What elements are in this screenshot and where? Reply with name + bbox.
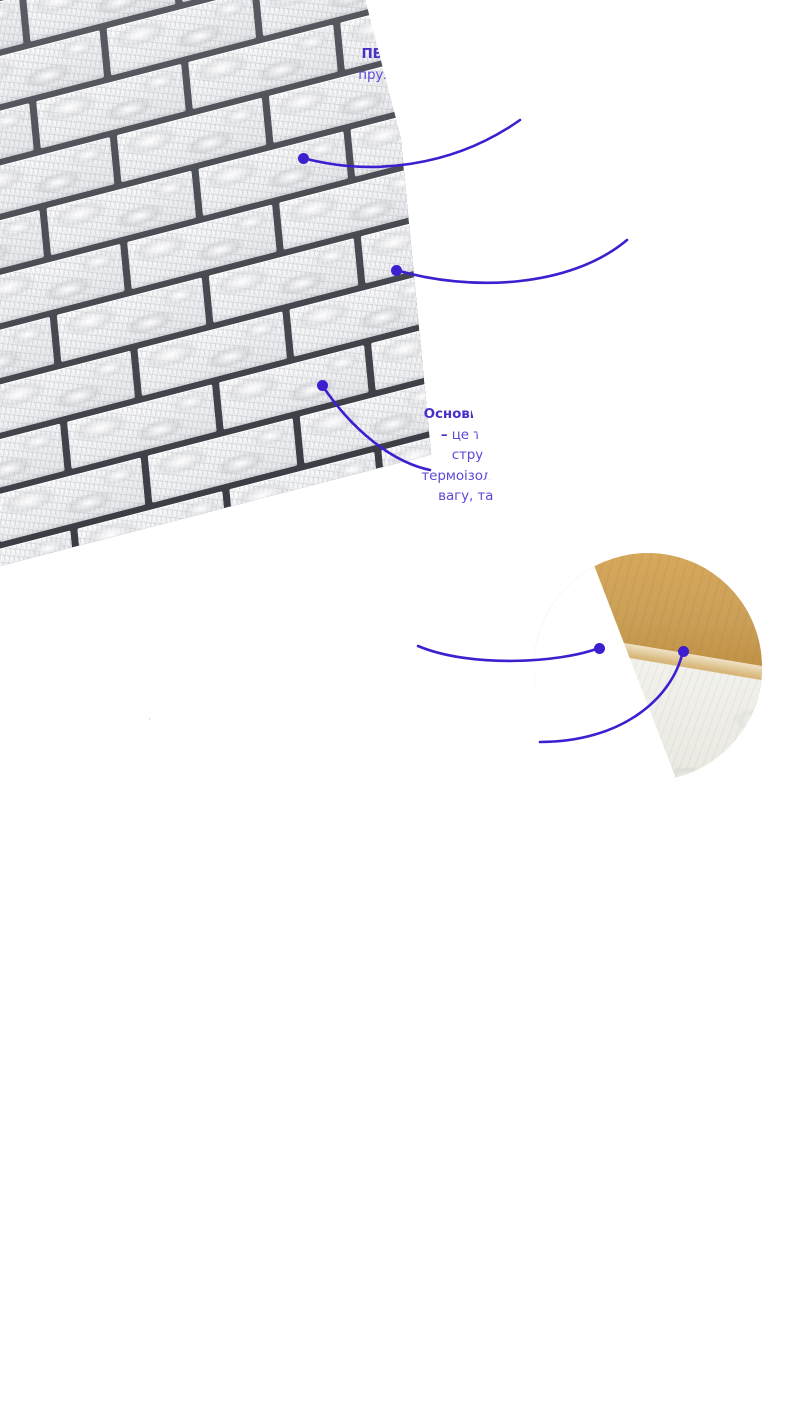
callout-dot-protective-paper <box>678 646 689 657</box>
infographic-canvas: ПВХ плівка (з лицьового боку) – це дуже … <box>0 0 800 800</box>
callout-dot-pvc-film <box>298 153 309 164</box>
leader-line-core <box>322 385 430 470</box>
leader-line-adhesive <box>418 646 599 661</box>
callout-dot-decorative-layer <box>391 265 402 276</box>
leader-line-decorative-layer <box>396 240 627 283</box>
leader-lines <box>0 0 800 800</box>
leader-line-pvc-film <box>303 120 520 167</box>
leader-line-protective-paper <box>540 651 683 742</box>
callout-dot-core <box>317 380 328 391</box>
callout-dot-adhesive <box>594 643 605 654</box>
